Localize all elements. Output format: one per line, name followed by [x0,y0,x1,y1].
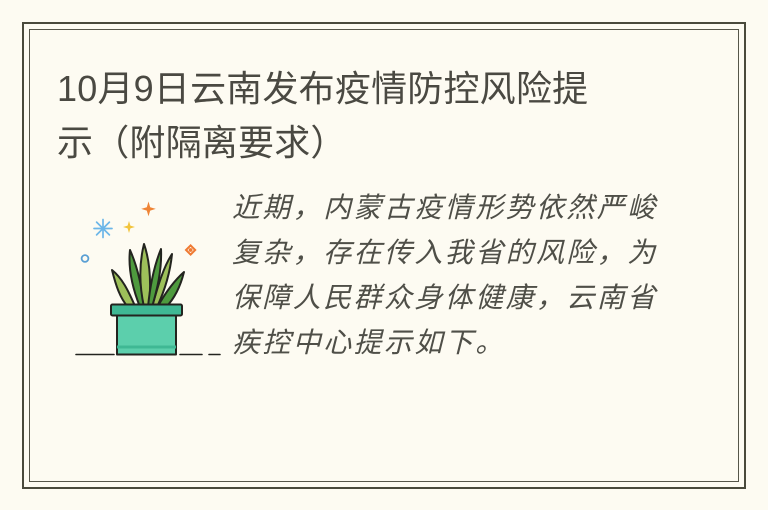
page-title-line-1: 10月9日云南发布疫情防控风险提 [57,62,702,116]
body-text-line-2: 复杂，存在传入我省的风险，为 [232,231,652,276]
four-point-star-sparkle [141,202,156,217]
page-title-line-2: 示（附隔离要求） [57,116,702,170]
body-text-line-1: 近期，内蒙古疫情形势依然严峻 [232,186,652,231]
article-body-text: 近期，内蒙古疫情形势依然严峻 复杂，存在传入我省的风险，为 保障人民群众身体健康… [232,186,652,366]
body-text-line-4: 疾控中心提示如下。 [232,321,652,366]
article-body-section: 近期，内蒙古疫情形势依然严峻 复杂，存在传入我省的风险，为 保障人民群众身体健康… [30,182,738,481]
flower-sparkle [186,245,195,254]
body-text-line-3: 保障人民群众身体健康，云南省 [232,276,652,321]
card-content: 10月9日云南发布疫情防控风险提 示（附隔离要求） [30,30,738,481]
plant-pot [111,305,182,355]
dot-sparkle [82,255,89,262]
page-title: 10月9日云南发布疫情防控风险提 示（附隔离要求） [57,62,702,170]
potted-plant-illustration [62,194,228,366]
notice-card-page: { "card": { "background_color": "#fdfbf2… [0,0,768,510]
plant-leaves [112,244,184,307]
snowflake-sparkle [94,220,112,238]
small-star-sparkle [123,221,135,233]
